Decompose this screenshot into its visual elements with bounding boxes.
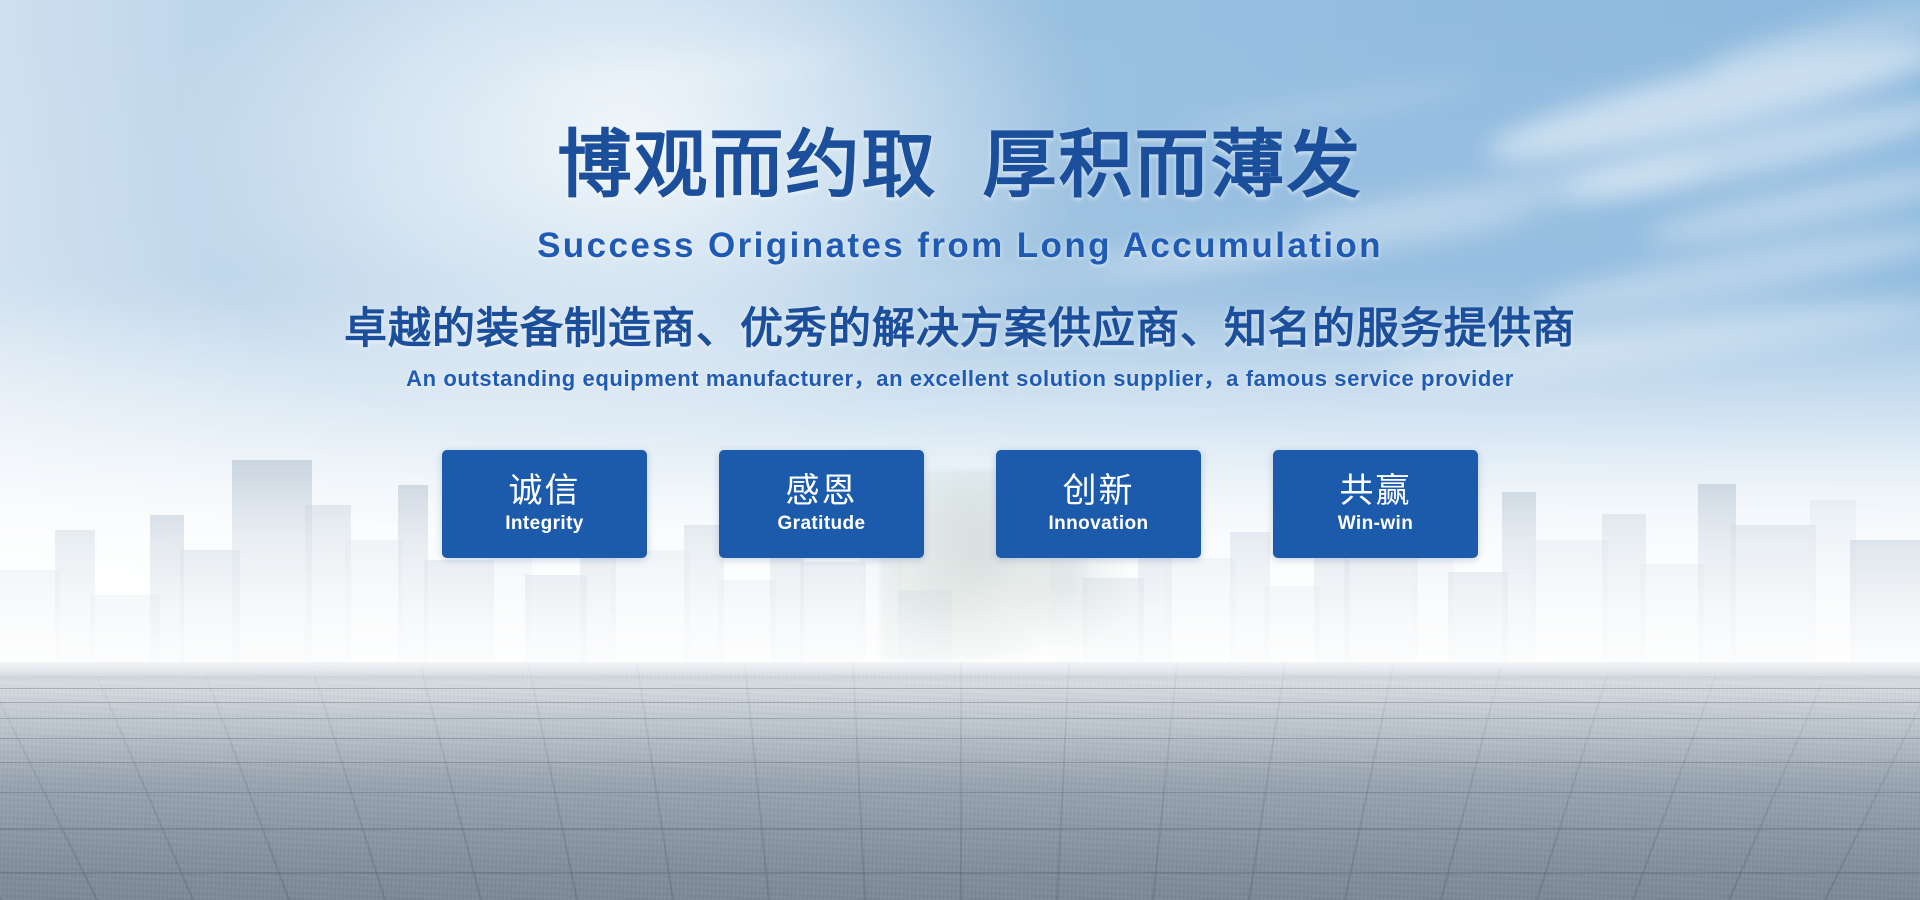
value-label-english: Win-win (1338, 513, 1413, 536)
value-label-english: Gratitude (777, 513, 865, 536)
subtitle-english: An outstanding equipment manufacturer，an… (0, 368, 1920, 390)
value-label-chinese: 共赢 (1340, 472, 1412, 510)
hero-banner: 博观而约取 厚积而薄发 Success Originates from Long… (0, 0, 1920, 900)
value-box-innovation[interactable]: 创新Innovation (996, 450, 1201, 558)
value-label-chinese: 诚信 (509, 472, 581, 510)
value-label-chinese: 创新 (1063, 472, 1135, 510)
subtitle-chinese: 卓越的装备制造商、优秀的解决方案供应商、知名的服务提供商 (0, 308, 1920, 351)
value-label-english: Integrity (505, 513, 584, 536)
core-values-list: 诚信Integrity感恩Gratitude创新Innovation共赢Win-… (0, 450, 1920, 558)
value-box-integrity[interactable]: 诚信Integrity (442, 450, 647, 558)
value-label-chinese: 感恩 (786, 472, 858, 510)
value-label-english: Innovation (1048, 513, 1148, 536)
value-box-win-win[interactable]: 共赢Win-win (1273, 450, 1478, 558)
value-box-gratitude[interactable]: 感恩Gratitude (719, 450, 924, 558)
headline-english: Success Originates from Long Accumulatio… (0, 228, 1920, 263)
banner-content: 博观而约取 厚积而薄发 Success Originates from Long… (0, 0, 1920, 900)
headline-chinese: 博观而约取 厚积而薄发 (0, 128, 1920, 202)
